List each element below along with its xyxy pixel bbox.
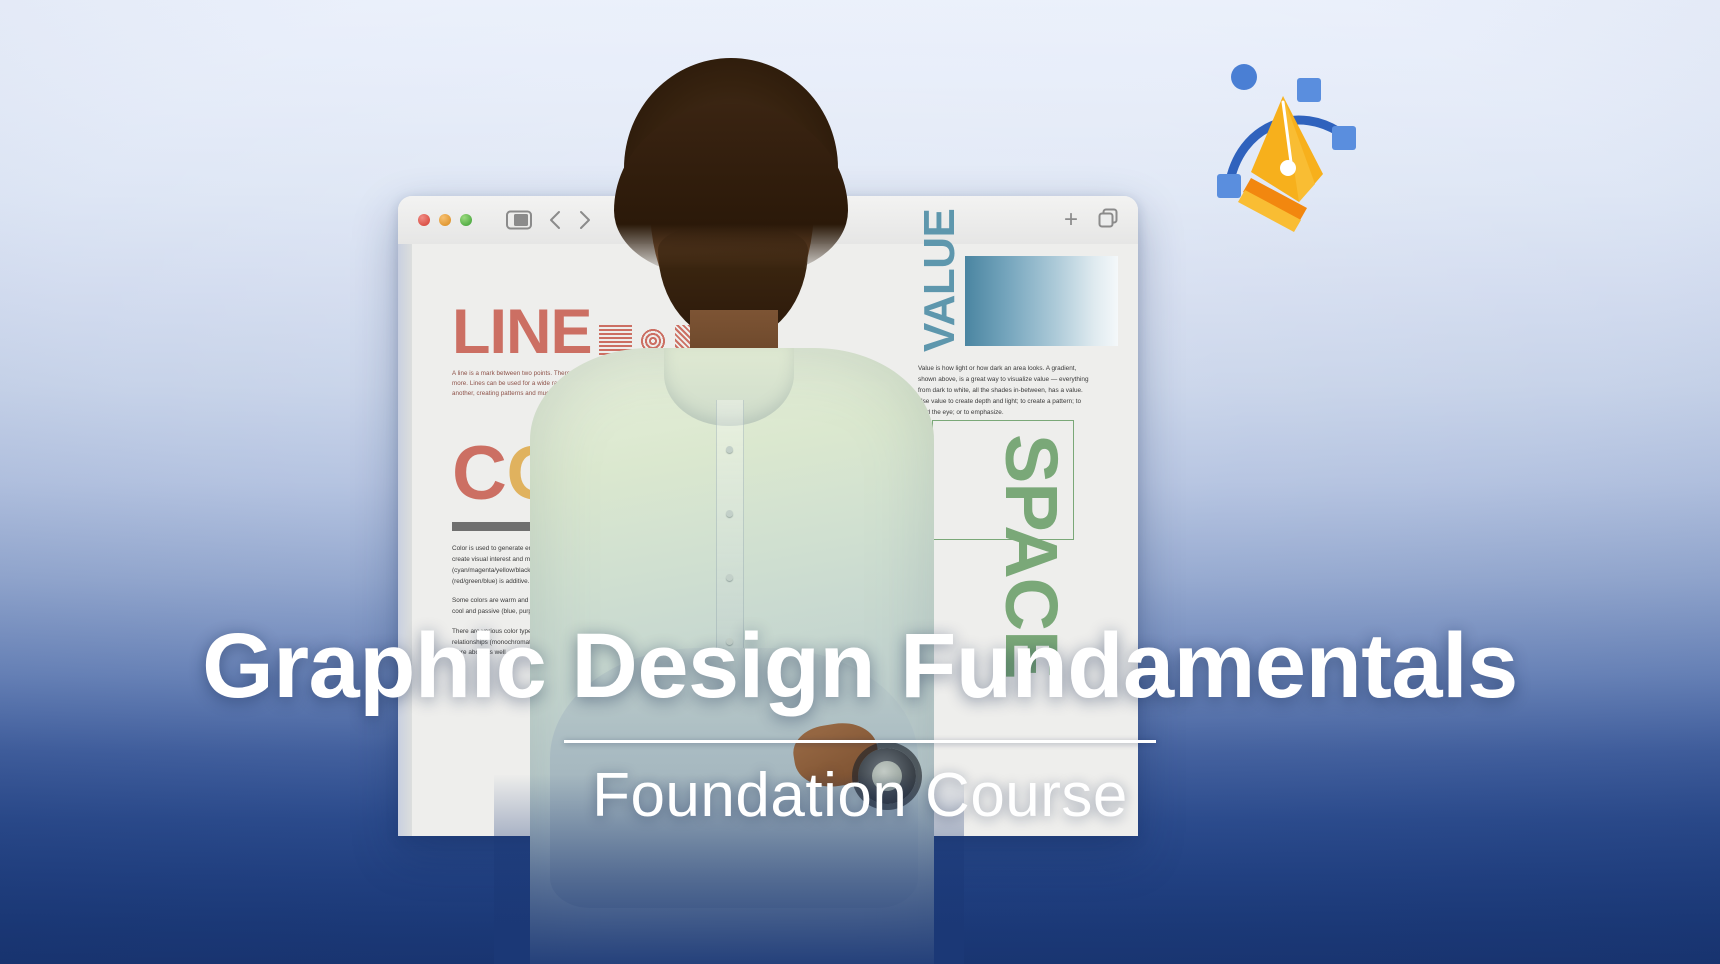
shirt-button bbox=[726, 574, 733, 581]
value-gradient-ramp bbox=[965, 256, 1118, 346]
tab-overview-icon[interactable] bbox=[1098, 208, 1118, 233]
shirt-button bbox=[726, 510, 733, 517]
course-banner: + LINE bbox=[0, 0, 1720, 964]
minimize-icon[interactable] bbox=[439, 214, 451, 226]
maximize-icon[interactable] bbox=[460, 214, 472, 226]
page-subtitle: Foundation Course bbox=[0, 765, 1720, 827]
pen-tool-icon bbox=[1195, 62, 1365, 232]
page-title: Graphic Design Fundamentals bbox=[0, 620, 1720, 712]
hero-text-block: Graphic Design Fundamentals Foundation C… bbox=[0, 620, 1720, 827]
browser-toolbar-right: + bbox=[1064, 208, 1118, 233]
new-tab-plus-icon[interactable]: + bbox=[1064, 208, 1078, 232]
shirt-button bbox=[726, 446, 733, 453]
close-icon[interactable] bbox=[418, 214, 430, 226]
title-divider bbox=[564, 740, 1156, 743]
window-controls bbox=[418, 214, 472, 226]
